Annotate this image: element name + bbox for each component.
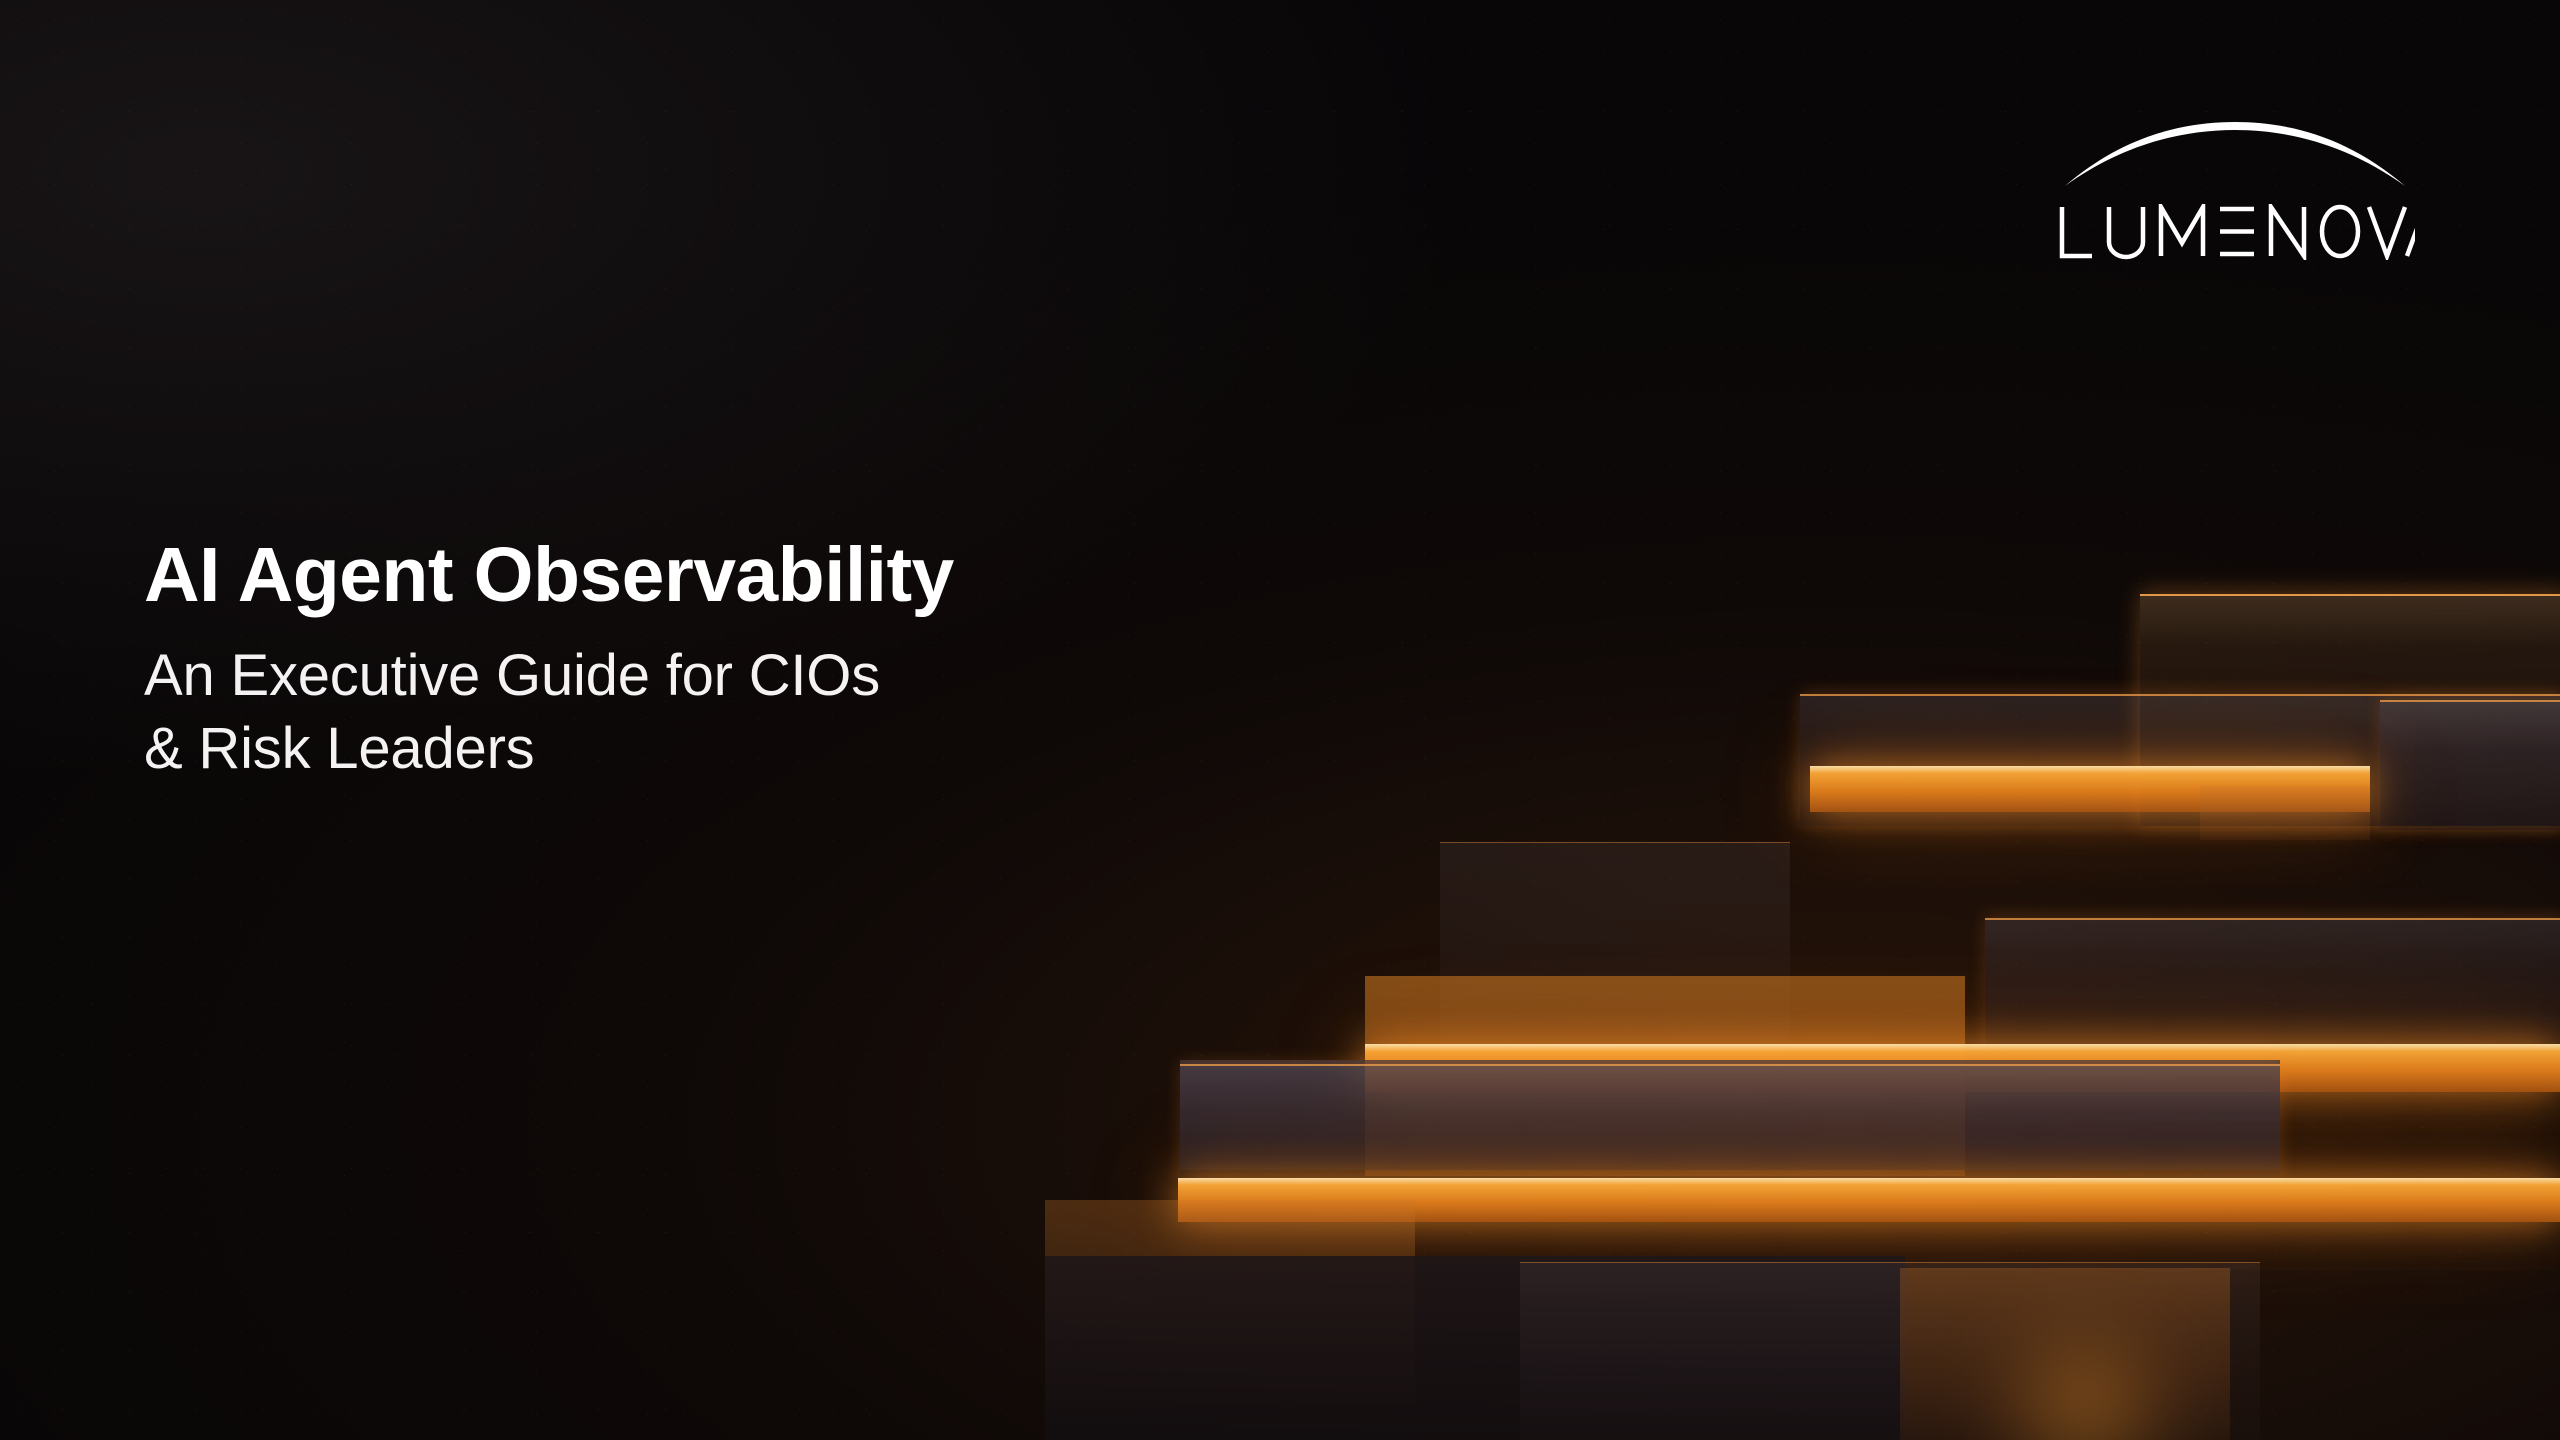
subtitle-line-2: & Risk Leaders: [144, 712, 1544, 785]
arc-swoosh-icon: [2063, 120, 2407, 192]
lumenova-wordmark-svg: [2055, 204, 2415, 260]
lumenova-wordmark: [2055, 204, 2415, 260]
cover-page: AI Agent Observability An Executive Guid…: [0, 0, 2560, 1440]
headline-block: AI Agent Observability An Executive Guid…: [144, 535, 1544, 785]
page-subtitle: An Executive Guide for CIOs & Risk Leade…: [144, 639, 1544, 785]
subtitle-line-1: An Executive Guide for CIOs: [144, 639, 1544, 712]
page-title: AI Agent Observability: [144, 535, 1544, 617]
lumenova-logo[interactable]: [2055, 120, 2415, 270]
